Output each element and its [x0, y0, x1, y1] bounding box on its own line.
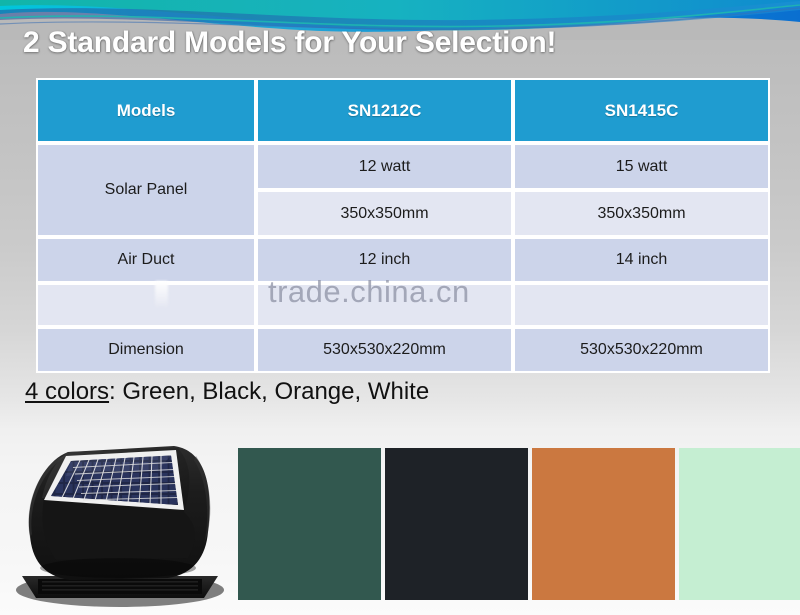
table-header-row: Models SN1212C SN1415C — [36, 78, 770, 143]
row-label-blank — [36, 283, 256, 327]
cell-blank-sn1415c — [513, 283, 770, 327]
row-label-solar-panel: Solar Panel — [36, 143, 256, 237]
table-header-sn1212c: SN1212C — [256, 78, 513, 143]
table-header-sn1415c: SN1415C — [513, 78, 770, 143]
cell-dimension-sn1212c: 530x530x220mm — [256, 327, 513, 373]
table-row-solar-panel: Solar Panel 12 watt 15 watt — [36, 143, 770, 190]
color-swatch-white — [679, 448, 800, 600]
colors-caption: 4 colors: Green, Black, Orange, White — [25, 378, 429, 406]
slide-canvas: 2 Standard Models for Your Selection! Mo… — [0, 0, 800, 615]
cell-dimension-sn1415c: 530x530x220mm — [513, 327, 770, 373]
colors-caption-rest: : Green, Black, Orange, White — [109, 378, 429, 405]
color-swatch-green — [238, 448, 381, 600]
table-row-dimension: Dimension 530x530x220mm 530x530x220mm — [36, 327, 770, 373]
color-swatch-black — [385, 448, 528, 600]
cell-panel-size-sn1415c: 350x350mm — [513, 190, 770, 237]
table-row-blank — [36, 283, 770, 327]
color-swatch-orange — [532, 448, 675, 600]
cell-solar-panel-sn1415c: 15 watt — [513, 143, 770, 190]
page-title: 2 Standard Models for Your Selection! — [23, 26, 556, 60]
cell-blank-sn1212c — [256, 283, 513, 327]
cell-air-duct-sn1212c: 12 inch — [256, 237, 513, 283]
spec-table: Models SN1212C SN1415C Solar Panel 12 wa… — [36, 78, 770, 373]
solar-attic-fan-photo — [8, 440, 230, 612]
table-row-air-duct: Air Duct 12 inch 14 inch — [36, 237, 770, 283]
cell-solar-panel-sn1212c: 12 watt — [256, 143, 513, 190]
colors-caption-lead: 4 colors — [25, 378, 109, 405]
table-header-models: Models — [36, 78, 256, 143]
row-label-dimension: Dimension — [36, 327, 256, 373]
row-label-air-duct: Air Duct — [36, 237, 256, 283]
cell-air-duct-sn1415c: 14 inch — [513, 237, 770, 283]
cell-panel-size-sn1212c: 350x350mm — [256, 190, 513, 237]
